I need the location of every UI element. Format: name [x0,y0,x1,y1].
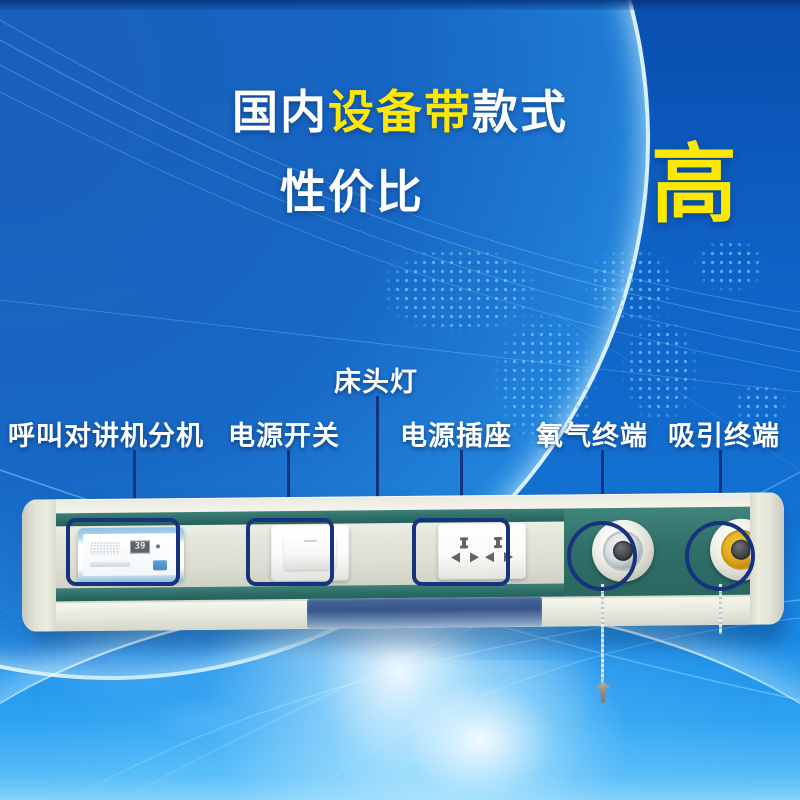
headline-emphasis: 高 [651,142,737,228]
top-edge-shade [0,0,800,10]
highlight-oxygen [567,521,637,591]
oxygen-pull-cord[interactable] [601,584,604,692]
callout-label-power-socket: 电源插座 [400,414,512,453]
highlight-suction [685,521,755,591]
callout-label-bedside-lamp: 床头灯 [334,360,418,399]
panel-endcap-left [22,499,56,631]
callout-label-suction: 吸引终端 [668,414,780,453]
suction-pull-cord[interactable] [719,584,722,634]
callout-label-power-switch: 电源开关 [228,414,340,453]
highlight-intercom [66,518,180,586]
callout-label-oxygen: 氧气终端 [536,414,648,453]
center-light-burst [330,660,630,800]
highlight-power-socket [412,518,510,586]
highlight-power-switch [246,518,334,586]
callout-label-intercom: 呼叫对讲机分机 [8,414,204,453]
panel-endcap-right [750,492,784,624]
poster-canvas: 国内设备带款式 性价比 高 呼叫对讲机分机 电源开关 床头灯 电源插座 氧气终端… [0,0,800,800]
bedside-lamp-diffuser [307,597,542,629]
